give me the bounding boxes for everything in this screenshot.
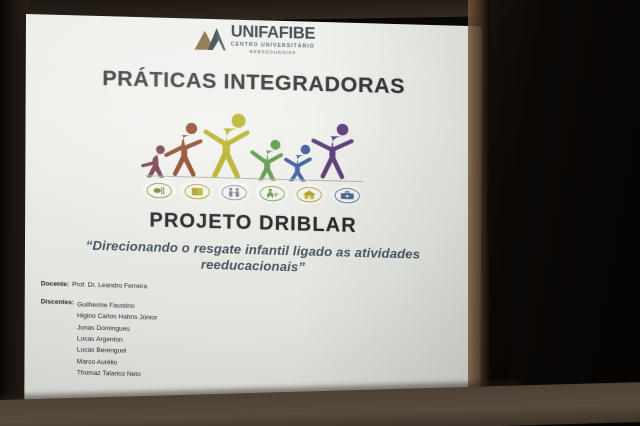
unifafibe-logo: UNIFAFIBE CENTRO UNIVERSITÁRIO BEBEDOURO… bbox=[193, 23, 316, 56]
docente-row: Docente: Prof. Dr. Leandro Ferreira bbox=[41, 280, 158, 290]
docente-label: Docente: bbox=[41, 280, 69, 288]
unifafibe-logo-text: UNIFAFIBE CENTRO UNIVERSITÁRIO BEBEDOURO… bbox=[231, 24, 316, 56]
logo-wordmark: UNIFAFIBE bbox=[231, 24, 315, 43]
docente-name: Prof. Dr. Leandro Ferreira bbox=[72, 281, 147, 290]
figure-5 bbox=[284, 144, 312, 183]
slide-title-praticas-integradoras: PRÁTICAS INTEGRADORAS bbox=[26, 64, 482, 101]
presentation-slide: UNIFAFIBE CENTRO UNIVERSITÁRIO BEBEDOURO… bbox=[24, 14, 482, 422]
discentes-list: Guilherme Faustino Higino Carlos Hahns J… bbox=[77, 299, 158, 380]
credits-block: Docente: Prof. Dr. Leandro Ferreira Disc… bbox=[40, 280, 157, 380]
unifafibe-logo-mark bbox=[193, 24, 227, 53]
slide-quote-subtitle: “Direcionando o resgate infantil ligado … bbox=[41, 236, 465, 279]
figure-4 bbox=[250, 139, 283, 183]
photo-of-projected-slide: UNIFAFIBE CENTRO UNIVERSITÁRIO BEBEDOURO… bbox=[0, 0, 640, 426]
list-item: Thomaz Talarico Neto bbox=[77, 367, 157, 380]
logo-subtitle-institution: CENTRO UNIVERSITÁRIO bbox=[231, 42, 315, 50]
logo-subtitle-city: BEBEDOURO/SP bbox=[250, 49, 296, 55]
figure-2 bbox=[164, 122, 202, 177]
book-icon bbox=[180, 180, 213, 202]
slide-subtitle-projeto-driblar: PROJETO DRIBLAR bbox=[25, 206, 481, 241]
discentes-label: Discentes: bbox=[41, 298, 74, 306]
house-icon bbox=[293, 183, 326, 205]
figure-6 bbox=[311, 123, 354, 180]
screen-right-edge bbox=[468, 0, 490, 426]
people-group-icon bbox=[218, 181, 251, 203]
figure-3 bbox=[203, 113, 249, 179]
people-chain-svg bbox=[135, 105, 371, 183]
person-care-icon bbox=[255, 182, 288, 204]
discentes-row: Discentes: Guilherme Faustino Higino Car… bbox=[40, 298, 157, 380]
nutrition-icon bbox=[143, 179, 176, 201]
briefcase-icon bbox=[330, 184, 363, 206]
room-wall-right bbox=[478, 0, 640, 426]
people-holding-hands-graphic bbox=[25, 102, 481, 186]
